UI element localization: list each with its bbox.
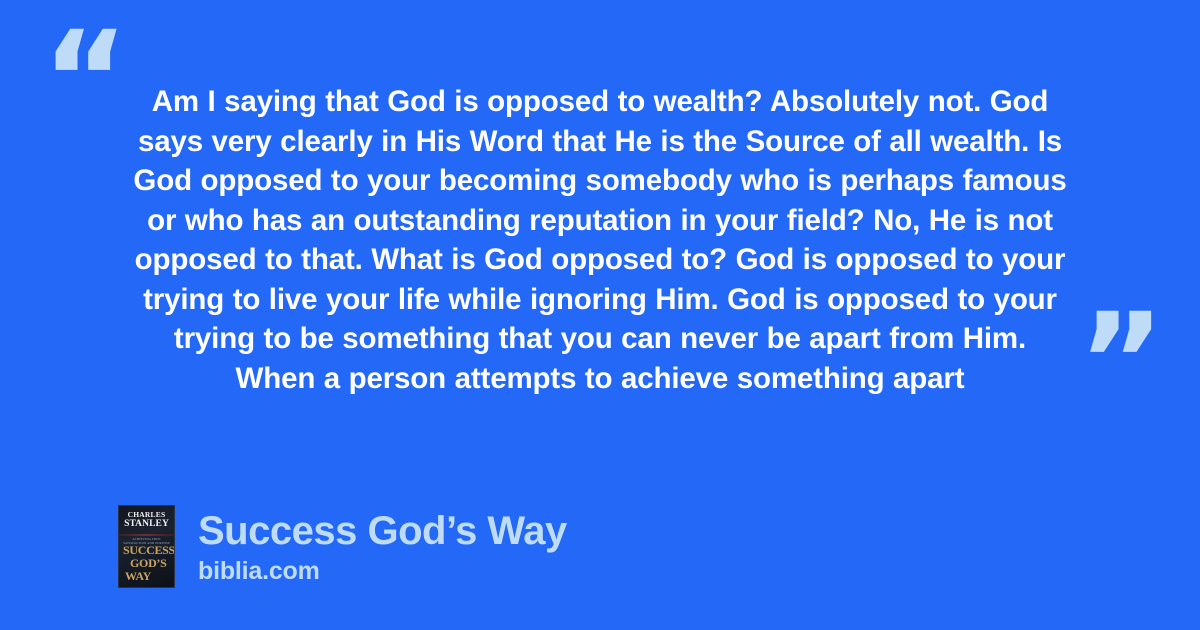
quote-line: When a person attempts to achieve someth… bbox=[100, 359, 1100, 399]
book-cover-title-line3: WAY bbox=[123, 570, 170, 583]
quote-line: says very clearly in His Word that He is… bbox=[100, 122, 1100, 162]
quote-card: “ Am I saying that God is opposed to wea… bbox=[0, 0, 1200, 630]
quote-line: opposed to that. What is God opposed to?… bbox=[100, 240, 1100, 280]
quote-line: trying to live your life while ignoring … bbox=[100, 280, 1100, 320]
quote-line: Am I saying that God is opposed to wealt… bbox=[100, 82, 1100, 122]
book-cover-author: CHARLES STANLEY bbox=[119, 511, 174, 528]
book-cover-thumbnail: CHARLES STANLEY ACHIEVING TRUE SATISFACT… bbox=[118, 505, 175, 588]
attribution-text: Success God’s Way biblia.com bbox=[198, 508, 567, 586]
attribution-block: CHARLES STANLEY ACHIEVING TRUE SATISFACT… bbox=[118, 505, 567, 588]
quote-line: or who has an outstanding reputation in … bbox=[100, 201, 1100, 241]
close-quotation-mark-icon: ” bbox=[1078, 296, 1163, 428]
quote-line: God opposed to your becoming somebody wh… bbox=[100, 161, 1100, 201]
quote-line: trying to be something that you can neve… bbox=[100, 319, 1100, 359]
quote-text: Am I saying that God is opposed to wealt… bbox=[100, 82, 1100, 398]
book-cover-author-line2: STANLEY bbox=[119, 520, 174, 529]
book-cover-divider bbox=[119, 534, 174, 536]
book-title: Success God’s Way bbox=[198, 508, 567, 554]
site-name[interactable]: biblia.com bbox=[198, 557, 567, 586]
book-cover-title: SUCCESS GOD’S WAY bbox=[123, 544, 170, 583]
